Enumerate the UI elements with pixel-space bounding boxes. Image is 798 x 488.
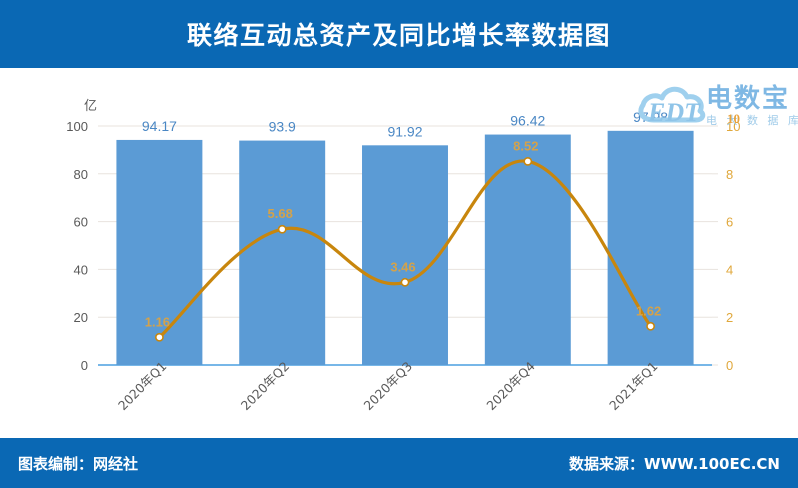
x-axis-tick-label: 2020年Q1 <box>115 359 170 414</box>
bar <box>485 135 571 365</box>
y2-axis-tick-label: 8 <box>726 167 733 182</box>
header-bar: 联络互动总资产及同比增长率数据图 <box>0 0 798 68</box>
bar <box>239 141 325 365</box>
y-axis-unit-label: 亿 <box>84 99 97 114</box>
page-title: 联络互动总资产及同比增长率数据图 <box>187 16 611 52</box>
line-value-label: 3.46 <box>390 259 415 274</box>
bar <box>362 145 448 365</box>
y2-axis-tick-label: 6 <box>726 215 733 230</box>
line-value-label: 1.62 <box>636 303 661 318</box>
bar <box>116 140 202 365</box>
footer-bar: 图表编制：网经社 数据来源：WWW.100EC.CN <box>0 438 798 488</box>
line-value-label: 1.16 <box>145 314 170 329</box>
x-axis-tick-label: 2020年Q4 <box>483 359 538 414</box>
x-axis-tick-label: 2020年Q3 <box>361 359 416 414</box>
line-marker <box>401 279 408 286</box>
bar-value-label: 91.92 <box>387 123 422 139</box>
data-source: 数据来源：WWW.100EC.CN <box>569 453 780 474</box>
chart-area: 020406080100亿024681094.1793.991.9296.429… <box>0 68 798 438</box>
y-axis-tick-label: 40 <box>74 262 88 277</box>
y-axis-tick-label: 80 <box>74 167 88 182</box>
y-axis-tick-label: 0 <box>81 358 88 373</box>
y2-axis-tick-label: 10 <box>726 119 740 134</box>
y-axis-tick-label: 60 <box>74 215 88 230</box>
line-marker <box>279 226 286 233</box>
bar-value-label: 97.98 <box>633 109 668 125</box>
y-axis-tick-label: 20 <box>74 310 88 325</box>
chart-producer: 图表编制：网经社 <box>18 453 138 474</box>
y2-axis-tick-label: 0 <box>726 358 733 373</box>
y2-axis-tick-label: 2 <box>726 310 733 325</box>
line-value-label: 8.52 <box>513 138 538 153</box>
y2-axis-tick-label: 4 <box>726 262 733 277</box>
bar-value-label: 93.9 <box>269 119 296 135</box>
bar-value-label: 94.17 <box>142 118 177 134</box>
line-marker <box>524 158 531 165</box>
line-marker <box>156 334 163 341</box>
bar-value-label: 96.42 <box>510 113 545 129</box>
x-axis-tick-label: 2020年Q2 <box>238 359 293 414</box>
line-marker <box>647 323 654 330</box>
y-axis-tick-label: 100 <box>66 119 88 134</box>
line-value-label: 5.68 <box>268 206 293 221</box>
x-axis-tick-label: 2021年Q1 <box>606 359 661 414</box>
combo-chart: 020406080100亿024681094.1793.991.9296.429… <box>0 68 798 438</box>
